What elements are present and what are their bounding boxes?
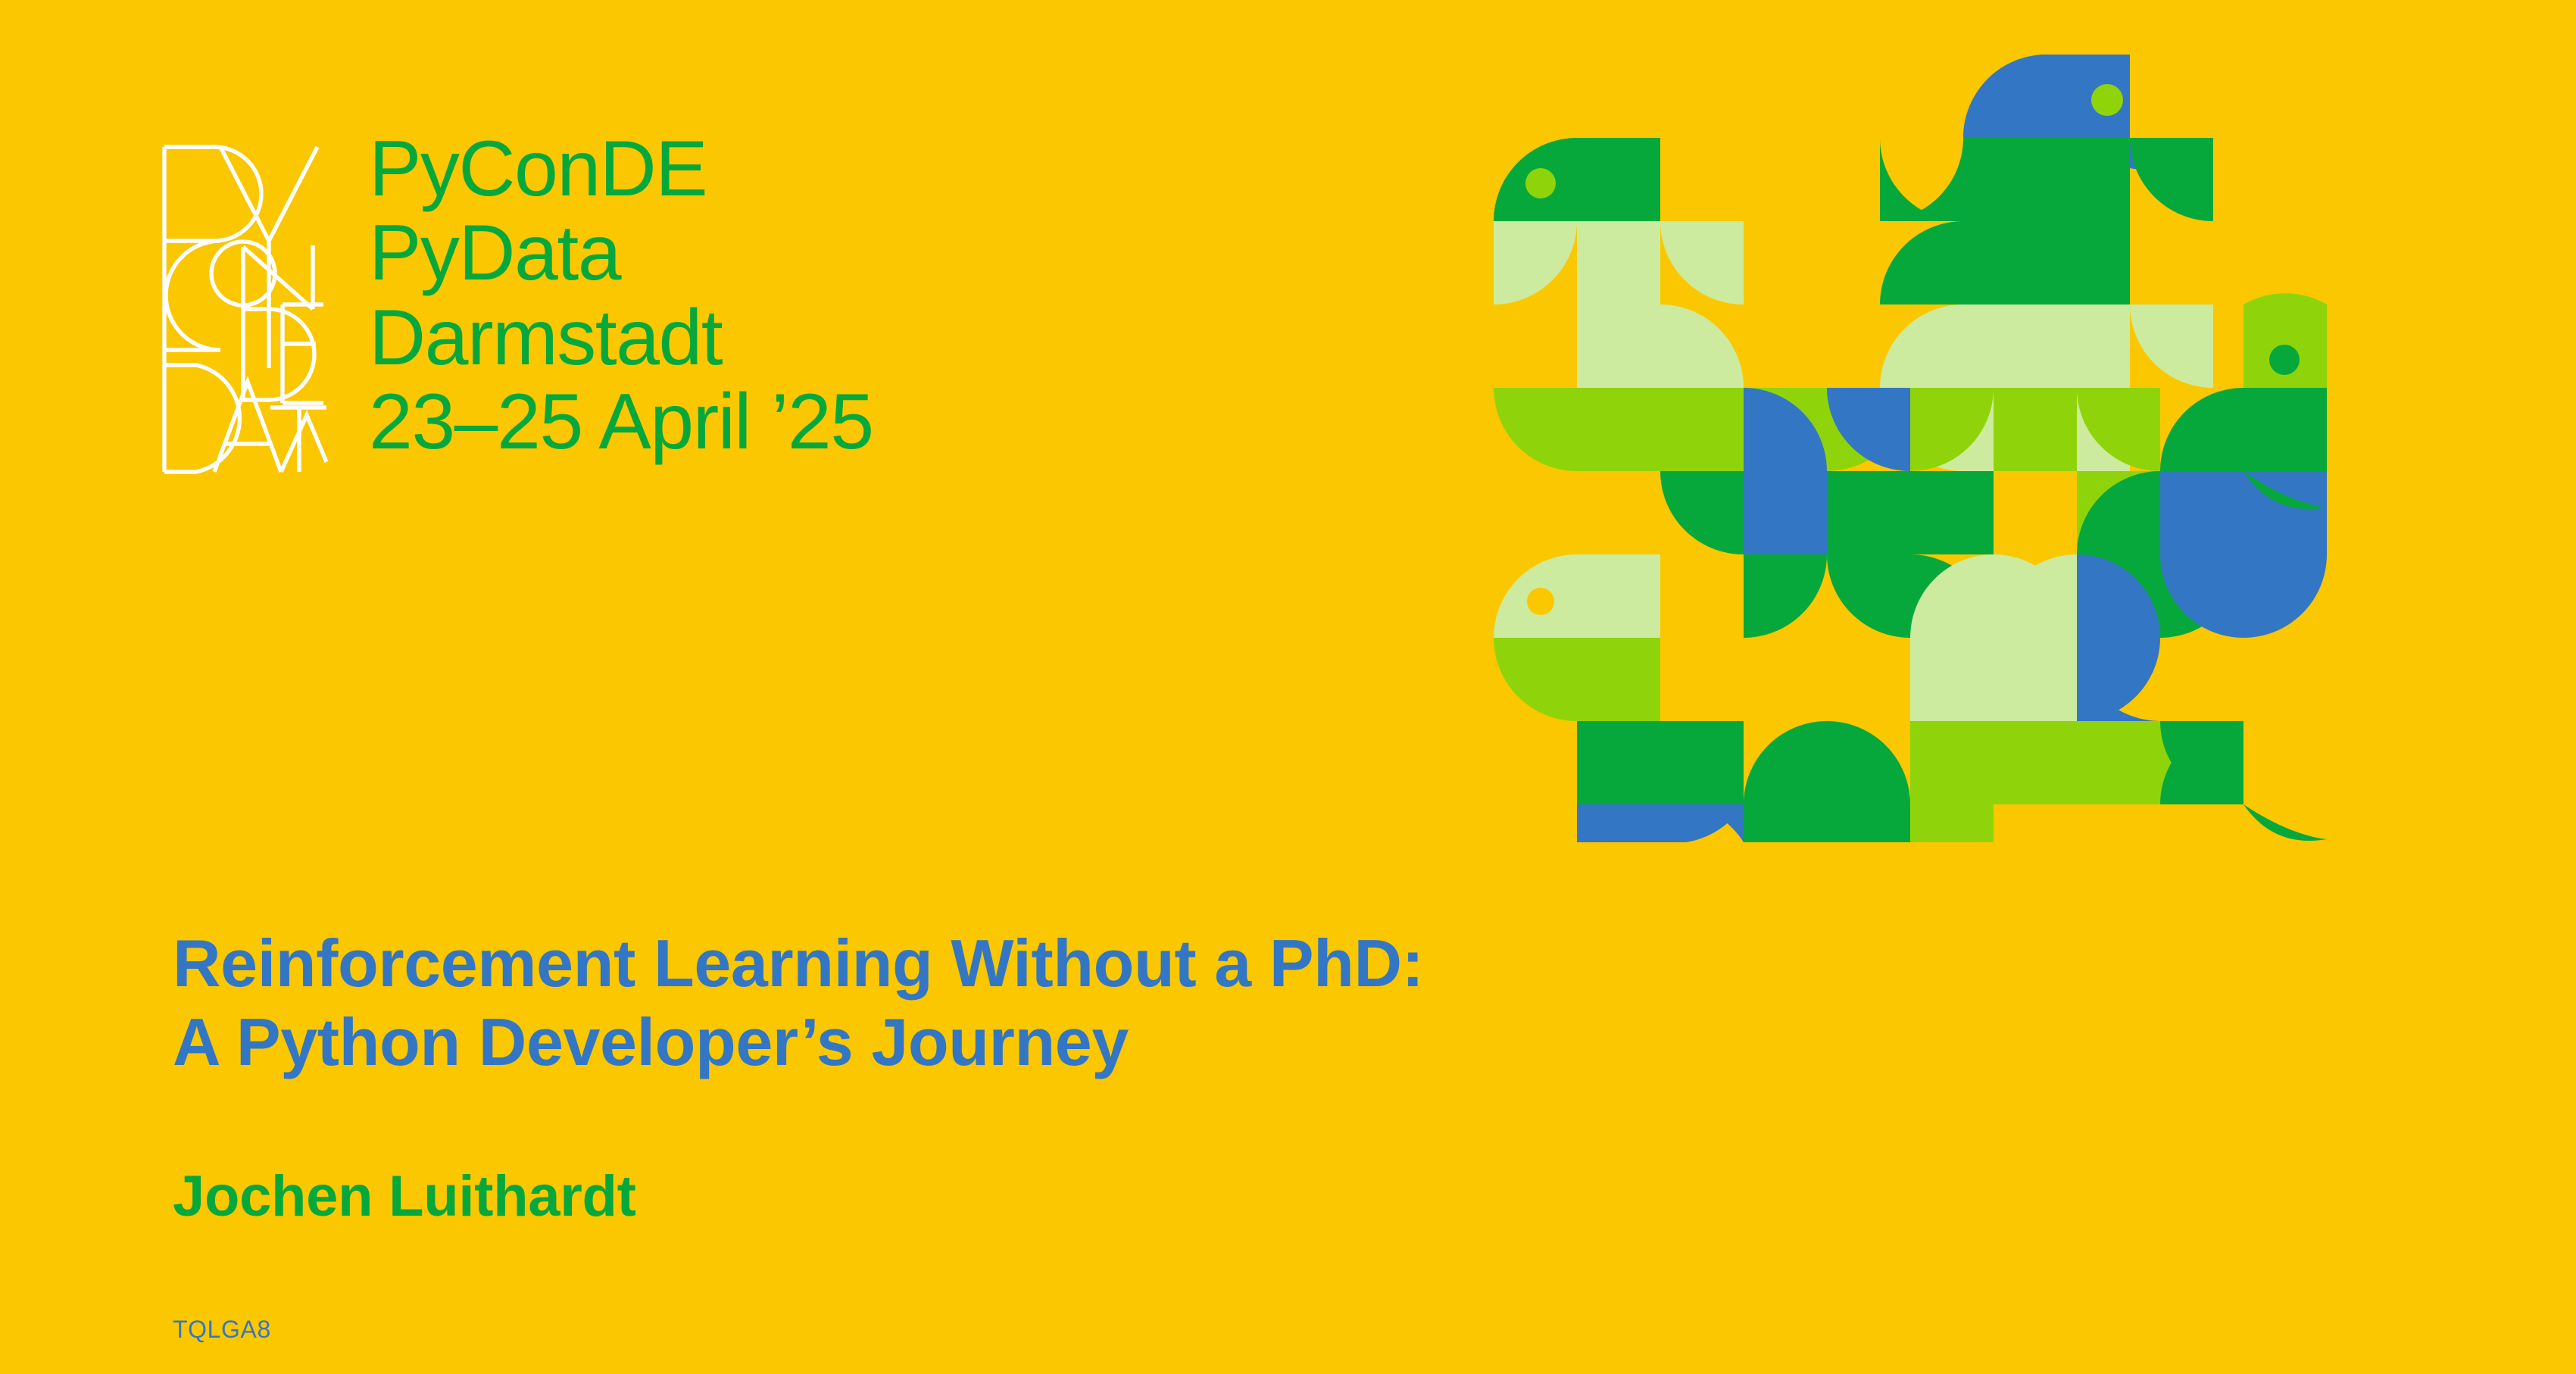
speaker-name: Jochen Luithardt [173, 1163, 636, 1229]
title-line-2: A Python Developer’s Journey [173, 1003, 1991, 1082]
title-line-1: Reinforcement Learning Without a PhD: [173, 924, 1991, 1003]
pyconde-pydata-monogram-icon [155, 141, 328, 476]
page-title: Reinforcement Learning Without a PhD: A … [173, 924, 1991, 1082]
conference-wordmark: PyConDE PyData Darmstadt 23–25 April ’25 [369, 127, 873, 464]
brand-lockup: PyConDE PyData Darmstadt 23–25 April ’25 [155, 141, 873, 476]
geometric-birds-svg [1410, 24, 2410, 842]
slide-code: TQLGA8 [173, 1316, 271, 1344]
presentation-title-slide: PyConDE PyData Darmstadt 23–25 April ’25 [0, 0, 2576, 1374]
wordmark-line-dates: 23–25 April ’25 [369, 380, 873, 464]
wordmark-line-pydata: PyData [369, 211, 873, 295]
geometric-birds-illustration [1410, 24, 2410, 842]
wordmark-line-pyconde: PyConDE [369, 127, 873, 211]
wordmark-line-city: Darmstadt [369, 296, 873, 380]
